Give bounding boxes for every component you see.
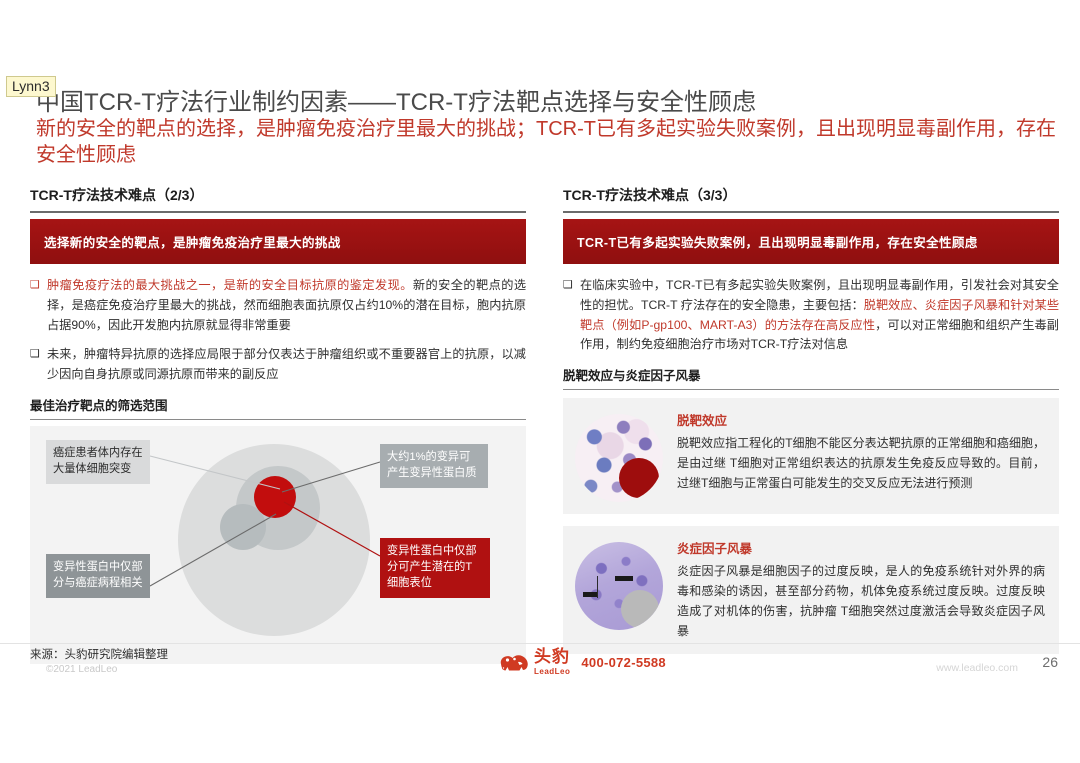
target-selection-diagram: 癌症患者体内存在大量体细胞突变 大约1%的变异可产生变异性蛋白质 变异性蛋白中仅…	[30, 426, 526, 664]
checkbox-icon: ❑	[30, 276, 42, 335]
list-item: ❑ 在临床实验中，TCR-T已有多起实验失败案例，且出现明显毒副作用，引发社会对…	[563, 276, 1059, 355]
gray-overlay-dot	[621, 590, 659, 628]
diagram-label-top-left: 癌症患者体内存在大量体细胞突变	[46, 440, 150, 484]
diagram-label-top-right: 大约1%的变异可产生变异性蛋白质	[380, 444, 488, 488]
left-bullet-1-text: 肿瘤免疫疗法的最大挑战之一，是新的安全目标抗原的鉴定发现。新的安全的靶点的选择，…	[47, 276, 526, 335]
list-item: ❑ 肿瘤免疫疗法的最大挑战之一，是新的安全目标抗原的鉴定发现。新的安全的靶点的选…	[30, 276, 526, 335]
card-body: 脱靶效应 脱靶效应指工程化的T细胞不能区分表达靶抗原的正常细胞和癌细胞，是由过继…	[677, 410, 1045, 494]
left-bullet-list: ❑ 肿瘤免疫疗法的最大挑战之一，是新的安全目标抗原的鉴定发现。新的安全的靶点的选…	[30, 276, 526, 385]
left-bullet-2-text: 未来，肿瘤特异抗原的选择应局限于部分仅表达于肿瘤组织或不重要器官上的抗原，以减少…	[47, 345, 526, 385]
checkbox-icon: ❑	[30, 345, 42, 385]
diagram-label-bottom-right: 变异性蛋白中仅部分可产生潜在的T细胞表位	[380, 538, 490, 598]
left-banner: 选择新的安全的靶点，是肿瘤免疫治疗里最大的挑战	[30, 219, 526, 264]
annotation-tag[interactable]: Lynn3	[6, 76, 56, 97]
list-item: ❑ 未来，肿瘤特异抗原的选择应局限于部分仅表达于肿瘤组织或不重要器官上的抗原，以…	[30, 345, 526, 385]
card-text: 炎症因子风暴是细胞因子的过度反映，是人的免疫系统针对外界的病毒和感染的诱因，甚至…	[677, 562, 1045, 642]
card-title: 炎症因子风暴	[677, 538, 1045, 557]
left-column: TCR-T疗法技术难点（2/3） 选择新的安全的靶点，是肿瘤免疫治疗里最大的挑战…	[30, 185, 526, 664]
page-title: 中国TCR-T疗法行业制约因素——TCR-T疗法靶点选择与安全性顾虑	[36, 82, 756, 117]
brand-name-en: LeadLeo	[534, 667, 570, 676]
brand-text: 头豹 LeadLeo	[534, 648, 570, 676]
page-number: 26	[1042, 654, 1058, 670]
right-sub-rule	[563, 389, 1059, 390]
copyright-note: ©2021 LeadLeo	[46, 664, 117, 675]
right-sub-label: 脱靶效应与炎症因子风暴	[563, 365, 1059, 389]
card-off-target-effect: 脱靶效应 脱靶效应指工程化的T细胞不能区分表达靶抗原的正常细胞和癌细胞，是由过继…	[563, 398, 1059, 514]
right-column-heading: TCR-T疗法技术难点（3/3）	[563, 185, 1059, 211]
histology-tissue-photo	[575, 542, 663, 630]
checkbox-icon: ❑	[563, 276, 575, 355]
diagram-label-bottom-left: 变异性蛋白中仅部分与癌症病程相关	[46, 554, 150, 598]
histology-cells-photo	[575, 414, 663, 502]
left-bullet-1-highlight: 肿瘤免疫疗法的最大挑战之一，是新的安全目标抗原的鉴定发现。	[47, 278, 413, 292]
right-heading-rule	[563, 211, 1059, 213]
brand-name-cn: 头豹	[534, 648, 570, 665]
card-cytokine-storm: 炎症因子风暴 炎症因子风暴是细胞因子的过度反映，是人的免疫系统针对外界的病毒和感…	[563, 526, 1059, 654]
right-bullet-list: ❑ 在临床实验中，TCR-T已有多起实验失败案例，且出现明显毒副作用，引发社会对…	[563, 276, 1059, 355]
red-overlay-dot	[619, 458, 659, 498]
card-title: 脱靶效应	[677, 410, 1045, 429]
scale-bar-icon-2	[583, 592, 597, 597]
website-url: www.leadleo.com	[936, 662, 1018, 674]
card-text: 脱靶效应指工程化的T细胞不能区分表达靶抗原的正常细胞和癌细胞，是由过继 T细胞对…	[677, 434, 1045, 494]
right-banner: TCR-T已有多起实验失败案例，且出现明显毒副作用，存在安全性顾虑	[563, 219, 1059, 264]
left-sub-rule	[30, 419, 526, 420]
page-subtitle: 新的安全的靶点的选择，是肿瘤免疫治疗里最大的挑战；TCR-T已有多起实验失败案例…	[36, 116, 1056, 169]
left-heading-rule	[30, 211, 526, 213]
scale-bar-icon	[615, 576, 633, 581]
contact-phone: 400-072-5588	[581, 655, 666, 670]
right-column: TCR-T疗法技术难点（3/3） TCR-T已有多起实验失败案例，且出现明显毒副…	[563, 185, 1059, 666]
left-sub-label: 最佳治疗靶点的筛选范围	[30, 395, 526, 419]
pointer-line-icon	[597, 576, 598, 598]
right-bullet-1-text: 在临床实验中，TCR-T已有多起实验失败案例，且出现明显毒副作用，引发社会对其安…	[580, 276, 1059, 355]
left-column-heading: TCR-T疗法技术难点（2/3）	[30, 185, 526, 211]
slide-canvas: Lynn3 中国TCR-T疗法行业制约因素——TCR-T疗法靶点选择与安全性顾虑…	[0, 0, 1080, 763]
card-body: 炎症因子风暴 炎症因子风暴是细胞因子的过度反映，是人的免疫系统针对外界的病毒和感…	[677, 538, 1045, 642]
